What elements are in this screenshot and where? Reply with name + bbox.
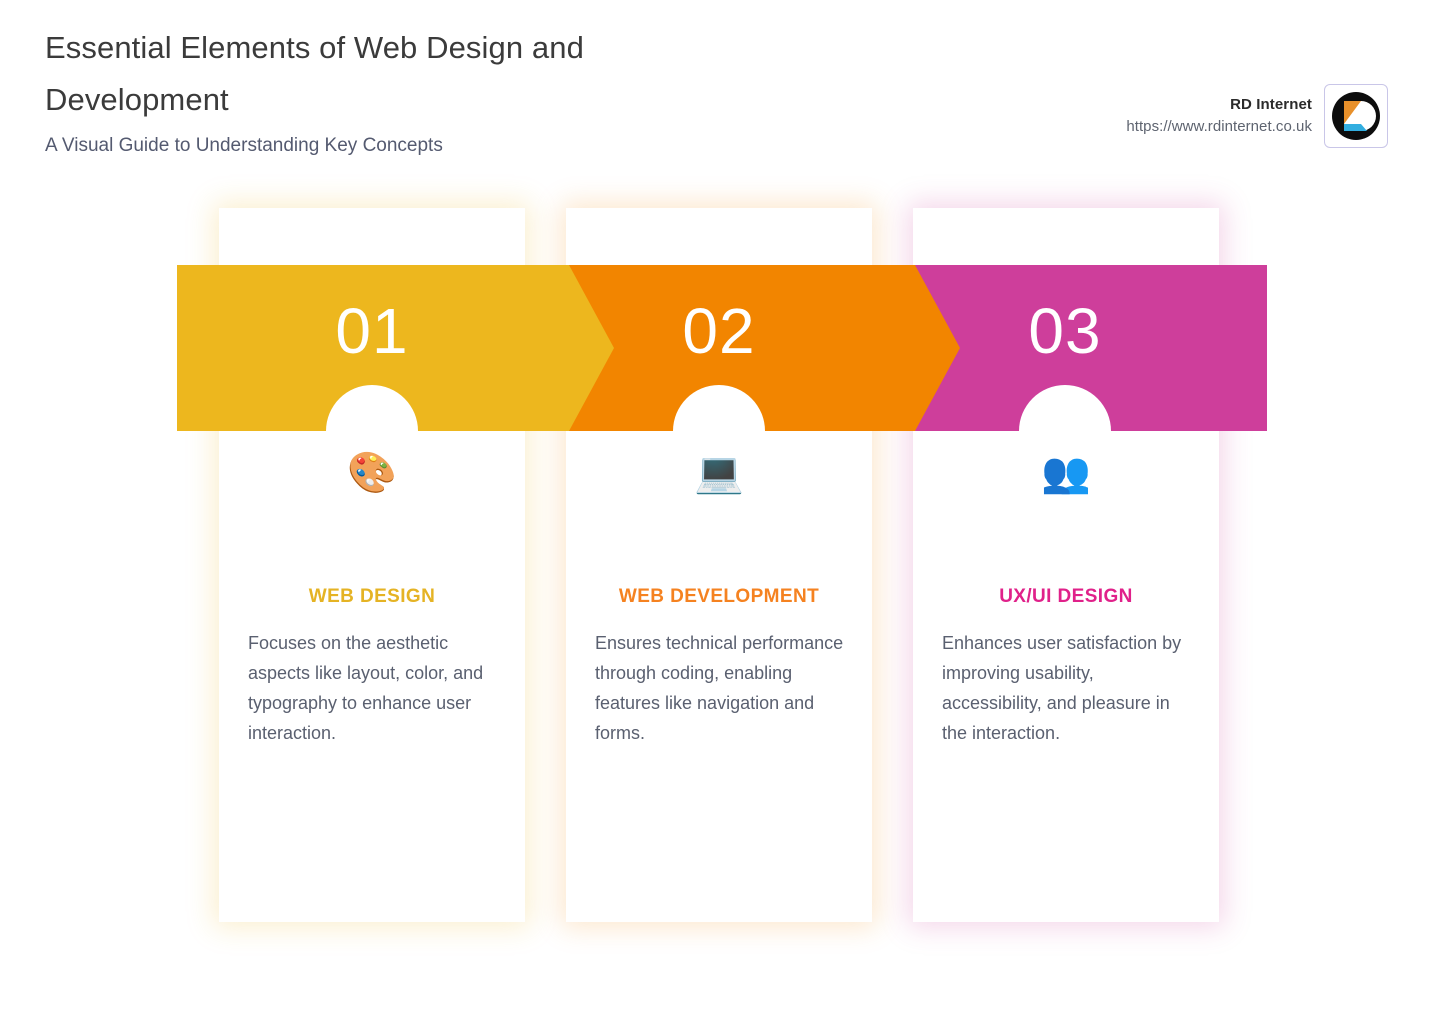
step-card-1-title: WEB DESIGN [219,586,525,608]
infographic-page: Essential Elements of Web Design and Dev… [0,0,1440,1024]
step-card-1-inner: 🎨 WEB DESIGN Focuses on the aesthetic as… [219,208,525,922]
step-card-1-body: Focuses on the aesthetic aspects like la… [248,628,500,748]
cards-container: 🎨 WEB DESIGN Focuses on the aesthetic as… [0,0,1440,1024]
busts-in-silhouette-icon: 👥 [913,451,1219,495]
step-card-2[interactable]: 💻 WEB DEVELOPMENT Ensures technical perf… [566,208,872,922]
laptop-computer-icon: 💻 [566,451,872,495]
step-card-3-body: Enhances user satisfaction by improving … [942,628,1194,748]
step-card-1[interactable]: 🎨 WEB DESIGN Focuses on the aesthetic as… [219,208,525,922]
step-card-3-inner: 👥 UX/UI DESIGN Enhances user satisfactio… [913,208,1219,922]
step-card-3-title: UX/UI DESIGN [913,586,1219,608]
step-card-2-body: Ensures technical performance through co… [595,628,847,748]
step-card-2-title: WEB DEVELOPMENT [566,586,872,608]
step-card-3[interactable]: 👥 UX/UI DESIGN Enhances user satisfactio… [913,208,1219,922]
step-card-2-inner: 💻 WEB DEVELOPMENT Ensures technical perf… [566,208,872,922]
artist-palette-icon: 🎨 [219,451,525,495]
